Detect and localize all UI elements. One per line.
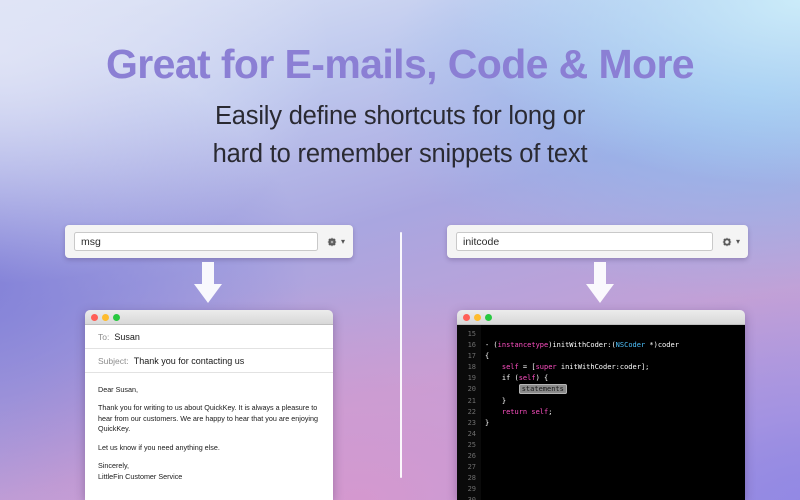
email-subject-value[interactable]: Thank you for contacting us	[134, 356, 245, 366]
placeholder-token[interactable]: statements	[519, 384, 567, 394]
headline-block: Great for E-mails, Code & More Easily de…	[0, 44, 800, 173]
line-number: 28	[457, 473, 476, 484]
line-number: 16	[457, 340, 476, 351]
arrow-down-icon	[191, 262, 225, 304]
line-number: 25	[457, 440, 476, 451]
snippet-shortcut-bar-right[interactable]: initcode ▾	[447, 225, 748, 258]
line-number: 29	[457, 484, 476, 495]
close-button-icon[interactable]	[463, 314, 470, 321]
shortcut-input-right[interactable]: initcode	[456, 232, 713, 251]
line-number: 30	[457, 495, 476, 500]
line-number: 22	[457, 407, 476, 418]
email-to-value[interactable]: Susan	[114, 332, 140, 342]
code-titlebar[interactable]	[457, 310, 745, 325]
email-subject-label: Subject:	[98, 356, 129, 366]
line-number: 24	[457, 429, 476, 440]
email-to-row[interactable]: To: Susan	[85, 325, 333, 349]
page-title: Great for E-mails, Code & More	[0, 44, 800, 85]
line-number: 18	[457, 362, 476, 373]
line-number: 27	[457, 462, 476, 473]
gear-icon[interactable]	[721, 236, 733, 248]
email-message-body[interactable]: Dear Susan, Thank you for writing to us …	[85, 373, 333, 482]
zoom-button-icon[interactable]	[113, 314, 120, 321]
email-paragraph: Let us know if you need anything else.	[98, 443, 320, 453]
line-number: 20	[457, 384, 476, 395]
minimize-button-icon[interactable]	[102, 314, 109, 321]
line-number: 17	[457, 351, 476, 362]
line-number: 21	[457, 396, 476, 407]
chevron-down-icon[interactable]: ▾	[736, 238, 740, 246]
page-subtitle: Easily define shortcuts for long or hard…	[0, 98, 800, 173]
minimize-button-icon[interactable]	[474, 314, 481, 321]
email-titlebar[interactable]	[85, 310, 333, 325]
shortcut-input-left[interactable]: msg	[74, 232, 318, 251]
snippet-shortcut-bar-left[interactable]: msg ▾	[65, 225, 353, 258]
line-number: 19	[457, 373, 476, 384]
code-editor-body: 151617181920212223242526272829303132 - (…	[457, 325, 745, 500]
email-body: To: Susan Subject: Thank you for contact…	[85, 325, 333, 500]
email-paragraph: Thank you for writing to us about QuickK…	[98, 403, 320, 434]
email-subject-row[interactable]: Subject: Thank you for contacting us	[85, 349, 333, 373]
settings-control-left[interactable]: ▾	[326, 236, 345, 248]
line-number-gutter: 151617181920212223242526272829303132	[457, 325, 481, 500]
line-number: 23	[457, 418, 476, 429]
subtitle-line-1: Easily define shortcuts for long or	[0, 98, 800, 136]
subtitle-line-2: hard to remember snippets of text	[0, 136, 800, 174]
email-window: To: Susan Subject: Thank you for contact…	[85, 310, 333, 500]
arrow-down-icon	[583, 262, 617, 304]
line-number: 15	[457, 329, 476, 340]
code-editor-window: 151617181920212223242526272829303132 - (…	[457, 310, 745, 500]
chevron-down-icon[interactable]: ▾	[341, 238, 345, 246]
column-divider	[400, 232, 402, 478]
gear-icon[interactable]	[326, 236, 338, 248]
settings-control-right[interactable]: ▾	[721, 236, 740, 248]
email-signature: Sincerely, LittleFin Customer Service	[98, 461, 320, 482]
line-number: 26	[457, 451, 476, 462]
zoom-button-icon[interactable]	[485, 314, 492, 321]
email-to-label: To:	[98, 332, 109, 342]
close-button-icon[interactable]	[91, 314, 98, 321]
email-paragraph: Dear Susan,	[98, 385, 320, 395]
code-content[interactable]: - (instancetype)initWithCoder:(NSCoder *…	[481, 325, 745, 500]
